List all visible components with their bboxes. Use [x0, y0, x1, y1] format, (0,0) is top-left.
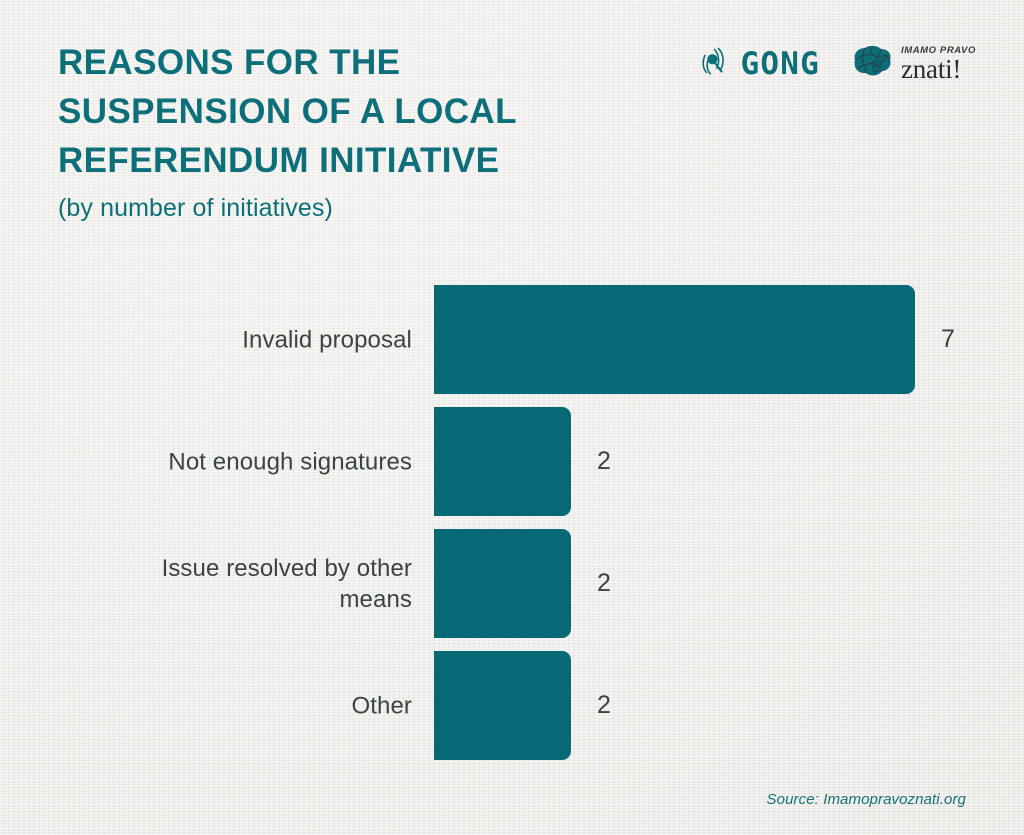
znati-text-block: Imamo Pravo znati! [901, 46, 976, 81]
bar-rect[interactable] [434, 407, 571, 516]
brain-icon [848, 43, 894, 86]
bar-category-label: Invalid proposal [82, 324, 412, 355]
gong-mallet-soundwave-icon [697, 44, 733, 85]
bar-value-label: 2 [597, 571, 611, 596]
bar-category-label: Issue resolved by other means [82, 553, 412, 615]
bar-rect[interactable] [434, 529, 571, 638]
bar-category-label: Other [82, 690, 412, 721]
bar-row: Not enough signatures 2 [0, 407, 1024, 516]
bar-row: Issue resolved by other means 2 [0, 529, 1024, 638]
bar-value-label: 2 [597, 693, 611, 718]
znati-logo[interactable]: Imamo Pravo znati! [848, 43, 976, 86]
bar-value-label: 2 [597, 449, 611, 474]
page-title: REASONS FOR THE SUSPENSION OF A LOCAL RE… [58, 38, 678, 185]
page-subtitle: (by number of initiatives) [58, 191, 678, 225]
bar-track: 2 [434, 407, 611, 516]
source-note: Source: Imamopravoznati.org [767, 791, 966, 808]
chart-poster: REASONS FOR THE SUSPENSION OF A LOCAL RE… [0, 0, 1024, 835]
bar-track: 2 [434, 529, 611, 638]
bar-chart-plot-area: Invalid proposal 7 Not enough signatures… [0, 285, 1024, 773]
gong-logo[interactable]: GONG [697, 44, 819, 85]
logo-bar: GONG [697, 38, 976, 90]
bar-category-label: Not enough signatures [82, 446, 412, 477]
gong-wordmark: GONG [740, 49, 819, 80]
bar-rect[interactable] [434, 651, 571, 760]
bar-value-label: 7 [941, 327, 955, 352]
bar-rect[interactable] [434, 285, 915, 394]
header-block: REASONS FOR THE SUSPENSION OF A LOCAL RE… [58, 38, 678, 225]
bar-row: Invalid proposal 7 [0, 285, 1024, 394]
bar-track: 2 [434, 651, 611, 760]
bar-track: 7 [434, 285, 955, 394]
znati-wordmark: znati! [901, 57, 976, 82]
bar-row: Other 2 [0, 651, 1024, 760]
